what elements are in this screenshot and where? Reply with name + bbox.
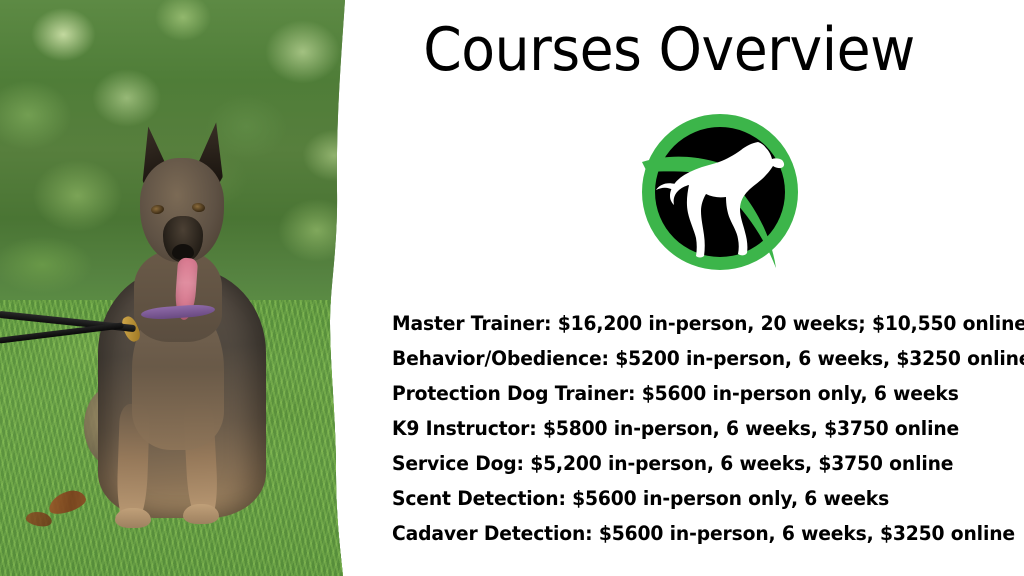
photo-panel — [0, 0, 352, 576]
course-line-scent-detection: Scent Detection: $5600 in-person only, 6… — [392, 481, 999, 516]
slide-root: Courses Overview Master Trainer: $16, — [0, 0, 1024, 576]
page-title: Courses Overview — [377, 18, 960, 82]
course-line-protection-dog-trainer: Protection Dog Trainer: $5600 in-person … — [392, 376, 999, 411]
dog-paw-left — [115, 508, 151, 528]
course-line-k9-instructor: K9 Instructor: $5800 in-person, 6 weeks,… — [392, 411, 999, 446]
leaping-dog-logo-icon — [640, 112, 800, 272]
course-line-cadaver-detection: Cadaver Detection: $5600 in-person, 6 we… — [392, 516, 999, 551]
course-line-master-trainer: Master Trainer: $16,200 in-person, 20 we… — [392, 306, 999, 341]
dog-photo — [0, 0, 352, 576]
content-panel: Courses Overview Master Trainer: $16, — [352, 0, 1024, 576]
course-list: Master Trainer: $16,200 in-person, 20 we… — [392, 306, 1024, 551]
course-line-service-dog: Service Dog: $5,200 in-person, 6 weeks, … — [392, 446, 999, 481]
dog-paw-right — [183, 504, 219, 524]
course-line-behavior-obedience: Behavior/Obedience: $5200 in-person, 6 w… — [392, 341, 999, 376]
dog-figure — [0, 0, 352, 576]
